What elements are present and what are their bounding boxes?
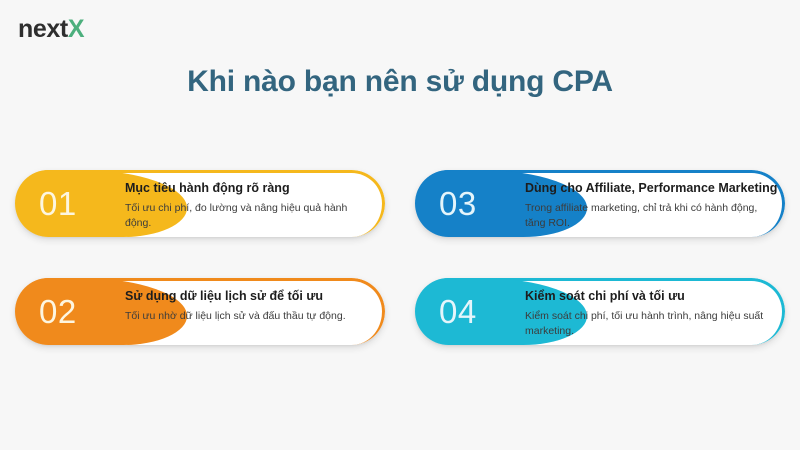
card-text-block: Sử dụng dữ liệu lịch sử để tối ưu Tối ưu… (125, 289, 369, 324)
card-heading: Kiểm soát chi phí và tối ưu (525, 289, 769, 305)
page-title: Khi nào bạn nên sử dụng CPA (0, 64, 800, 100)
card-description: Tối ưu chi phí, đo lường và nâng hiệu qu… (125, 201, 369, 232)
card-number: 01 (39, 186, 77, 219)
card-text-block: Mục tiêu hành động rõ ràng Tối ưu chi ph… (125, 181, 369, 232)
card-description: Trong affiliate marketing, chỉ trả khi c… (525, 201, 769, 232)
card-text-block: Kiểm soát chi phí và tối ưu Kiểm soát ch… (525, 289, 769, 340)
info-card-02[interactable]: 02 Sử dụng dữ liệu lịch sử để tối ưu Tối… (15, 278, 385, 345)
card-heading: Dùng cho Affiliate, Performance Marketin… (525, 181, 769, 197)
card-number: 04 (439, 294, 477, 327)
card-description: Kiểm soát chi phí, tối ưu hành trình, nâ… (525, 309, 769, 340)
card-grid: 01 Mục tiêu hành động rõ ràng Tối ưu chi… (15, 170, 785, 345)
info-card-03[interactable]: 03 Dùng cho Affiliate, Performance Marke… (415, 170, 785, 237)
card-number: 02 (39, 294, 77, 327)
brand-logo-text: next (18, 15, 68, 43)
card-heading: Sử dụng dữ liệu lịch sử để tối ưu (125, 289, 369, 305)
card-text-block: Dùng cho Affiliate, Performance Marketin… (525, 181, 769, 232)
brand-logo-accent: X (68, 15, 84, 43)
info-card-04[interactable]: 04 Kiểm soát chi phí và tối ưu Kiểm soát… (415, 278, 785, 345)
card-heading: Mục tiêu hành động rõ ràng (125, 181, 369, 197)
card-description: Tối ưu nhờ dữ liệu lịch sử và đấu thầu t… (125, 309, 369, 325)
brand-logo[interactable]: nextX (18, 17, 84, 42)
card-number: 03 (439, 186, 477, 219)
info-card-01[interactable]: 01 Mục tiêu hành động rõ ràng Tối ưu chi… (15, 170, 385, 237)
